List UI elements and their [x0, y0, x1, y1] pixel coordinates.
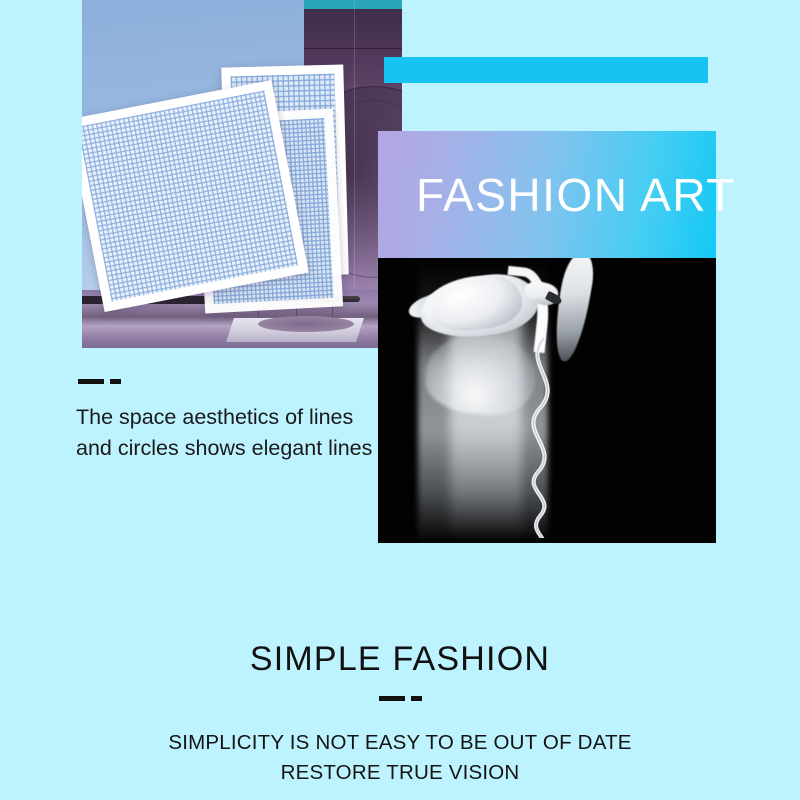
product-photo — [82, 0, 402, 348]
bottom-divider — [0, 696, 800, 701]
mesh-panel-texture — [82, 91, 298, 302]
cyan-accent-bar — [384, 57, 708, 83]
swan-photo — [378, 258, 716, 543]
bottom-divider-marks — [379, 696, 422, 701]
left-caption: The space aesthetics of lines and circle… — [76, 402, 376, 464]
divider-long-dash — [379, 696, 405, 701]
divider-short-dash — [411, 696, 422, 701]
headline-title: FASHION ART — [416, 172, 736, 218]
divider-short-dash — [110, 379, 121, 384]
left-divider — [78, 379, 121, 384]
poster-canvas: FASHION ART The space aesthetics of line… — [0, 0, 800, 800]
bottom-subtitle-line-2: RESTORE TRUE VISION — [0, 758, 800, 788]
swan-photo-ribbon — [514, 338, 574, 538]
product-photo-horizontal-line — [304, 48, 402, 49]
mesh-panel-front — [82, 80, 309, 312]
bottom-subtitle: SIMPLICITY IS NOT EASY TO BE OUT OF DATE… — [0, 728, 800, 788]
divider-long-dash — [78, 379, 104, 384]
product-photo-plinth-shadow — [258, 316, 354, 332]
bottom-title: SIMPLE FASHION — [0, 640, 800, 679]
bottom-subtitle-line-1: SIMPLICITY IS NOT EASY TO BE OUT OF DATE — [0, 728, 800, 758]
product-photo-teal-strip — [304, 0, 402, 9]
headline-band: FASHION ART — [378, 131, 716, 258]
